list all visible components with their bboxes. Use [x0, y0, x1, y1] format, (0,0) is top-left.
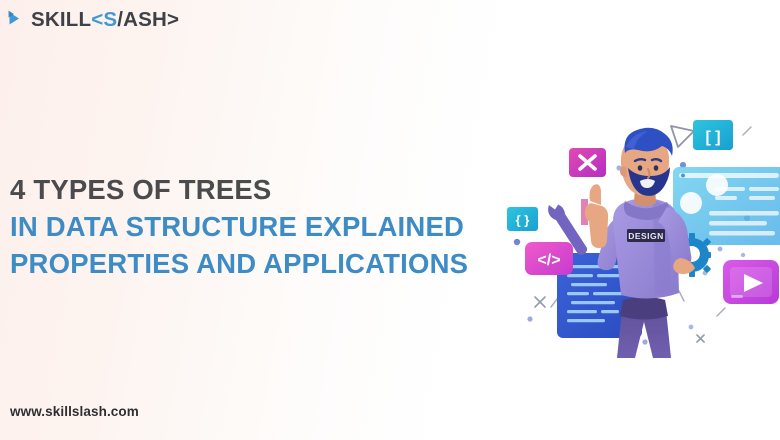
footer-website-url[interactable]: www.skillslash.com: [10, 404, 139, 419]
svg-text:{ }: { }: [516, 213, 530, 228]
headline-line-2: IN DATA STRUCTURE EXPLAINED: [10, 208, 530, 245]
svg-text:DESIGN: DESIGN: [628, 231, 664, 241]
curly-braces-badge: { }: [507, 207, 538, 231]
page-title: 4 TYPES OF TREES IN DATA STRUCTURE EXPLA…: [10, 171, 530, 282]
logo-text-ash: /ASH>: [117, 8, 179, 31]
headline-line-1: 4 TYPES OF TREES: [10, 171, 530, 208]
site-logo[interactable]: SKILL<S/ASH>: [8, 4, 179, 36]
logo-text-skill: SKILL: [31, 8, 91, 31]
browser-window-panel: [673, 167, 780, 245]
blog-banner: SKILL<S/ASH> 4 TYPES OF TREES IN DATA ST…: [0, 0, 780, 440]
code-tag-badge: </>: [525, 242, 573, 275]
square-brackets-badge: [ ]: [693, 120, 733, 150]
svg-text:</>: </>: [537, 252, 560, 269]
logo-text-open-slash: <S: [91, 8, 117, 31]
logo-wordmark: SKILL<S/ASH>: [31, 10, 179, 31]
triangle-outline-icon: [671, 126, 694, 147]
svg-text:[ ]: [ ]: [705, 129, 720, 146]
headline-line-3: PROPERTIES AND APPLICATIONS: [10, 245, 530, 282]
hero-illustration: { } [ ]: [495, 95, 780, 360]
skillslash-arrow-mark-icon: [8, 9, 28, 31]
video-play-badge: [723, 260, 779, 304]
